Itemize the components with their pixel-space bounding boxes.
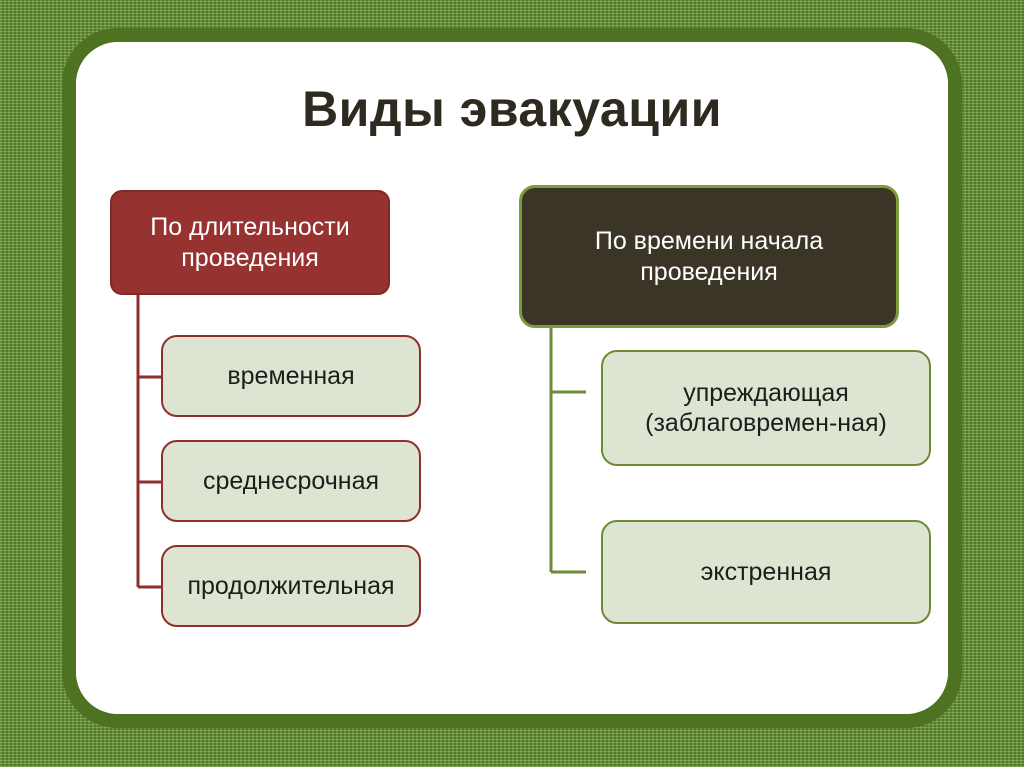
branch-heading-start-time[interactable]: По времени начала проведения: [519, 185, 899, 328]
slide-card: Виды эвакуации По длительности проведени…: [62, 28, 962, 728]
branch-heading-duration[interactable]: По длительности проведения: [110, 190, 390, 295]
branch-item-duration-medium-term[interactable]: среднесрочная: [161, 440, 421, 522]
branch-item-start-time-emergency[interactable]: экстренная: [601, 520, 931, 624]
branch-item-start-time-preemptive[interactable]: упреждающая (заблаговремен-ная): [601, 350, 931, 466]
slide: Виды эвакуации По длительности проведени…: [0, 0, 1024, 767]
slide-card-inner: Виды эвакуации По длительности проведени…: [76, 42, 948, 714]
branch-item-duration-long[interactable]: продолжительная: [161, 545, 421, 627]
branch-item-duration-temporary[interactable]: временная: [161, 335, 421, 417]
